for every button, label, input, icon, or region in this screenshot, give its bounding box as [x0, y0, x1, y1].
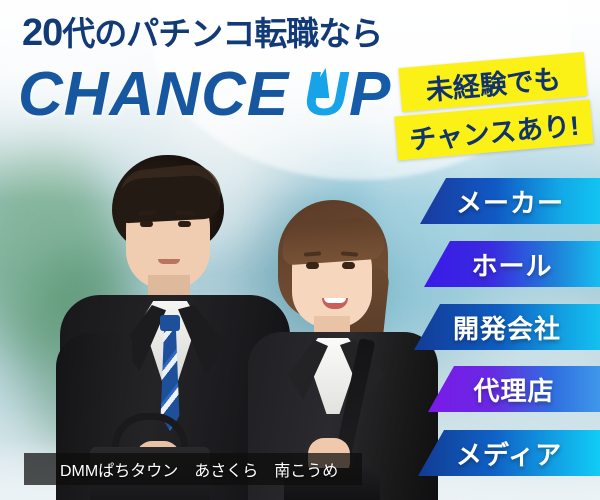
category-label: 代理店: [473, 371, 554, 408]
category-label: ホール: [471, 246, 552, 283]
recruitment-banner[interactable]: 20代のパチンコ転職なら CHANCEUP 未経験でも チャンスあり! メーカー…: [0, 0, 600, 500]
category-item-agency[interactable]: 代理店: [428, 366, 600, 412]
caption-text: DMMぱちタウン あさくら 南こうめ: [24, 457, 338, 481]
category-label: メディア: [456, 435, 562, 472]
caption-bar: DMMぱちタウン あさくら 南こうめ: [24, 453, 362, 485]
category-label: 開発会社: [453, 309, 561, 346]
category-list: メーカー ホール 開発会社 代理店 メディア: [0, 0, 600, 500]
category-item-hall[interactable]: ホール: [424, 241, 600, 287]
category-label: メーカー: [456, 183, 564, 220]
category-item-maker[interactable]: メーカー: [420, 178, 600, 224]
category-item-media[interactable]: メディア: [418, 430, 600, 476]
category-item-development-company[interactable]: 開発会社: [414, 304, 600, 350]
